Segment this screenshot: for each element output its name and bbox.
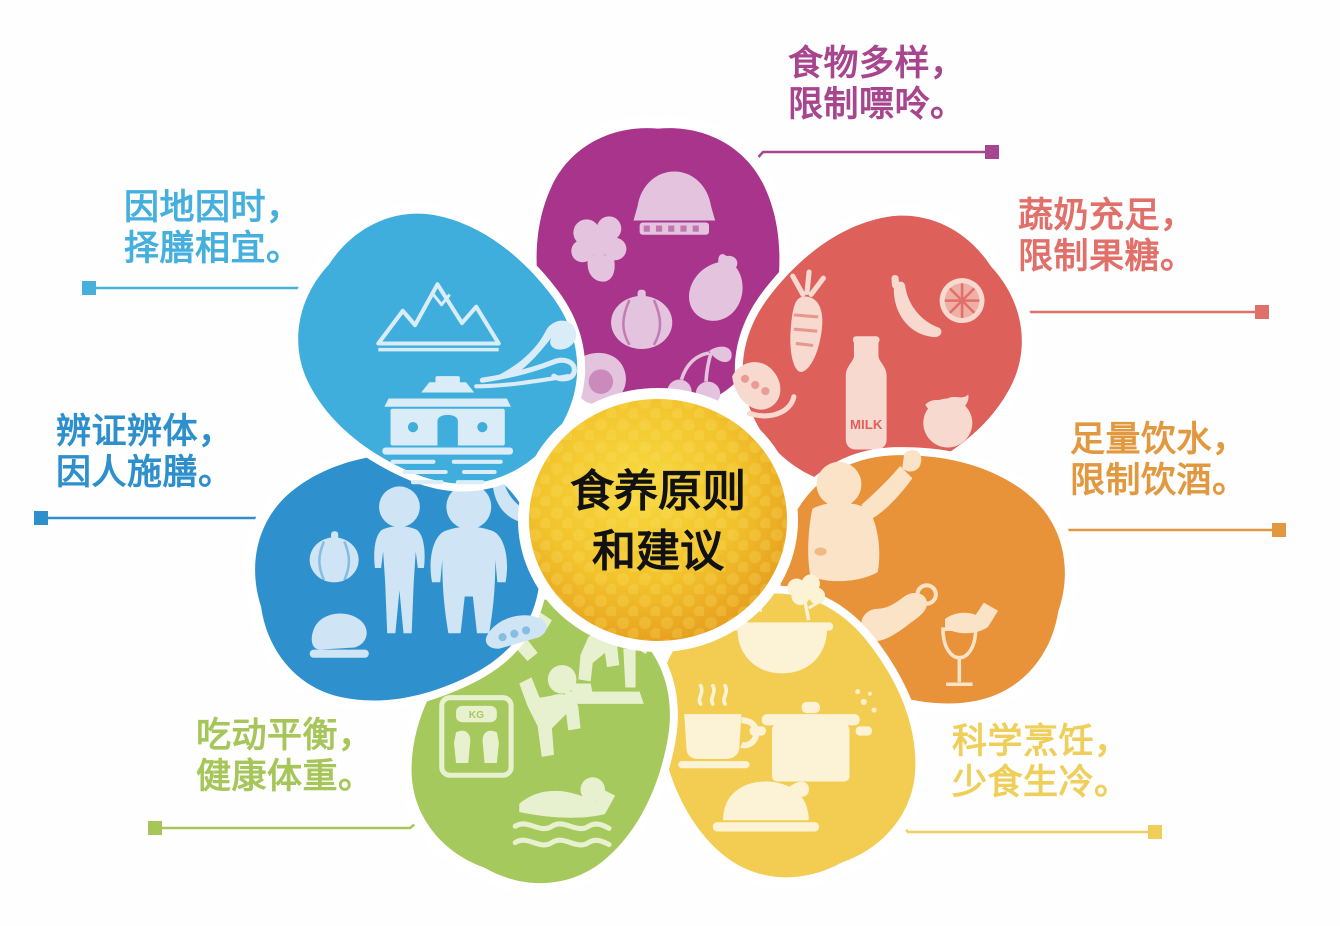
callout-personalized-diet: 辨证辨体， 因人施膳。 (56, 412, 234, 493)
connector-endpoint-dot (1148, 825, 1162, 839)
center-badge: 食养原则 和建议 (518, 388, 798, 652)
connector-endpoint-dot (148, 821, 162, 835)
connector-endpoint-dot (82, 281, 96, 295)
callout-drink-water: 足量饮水， 限制饮酒。 (1070, 420, 1248, 501)
tomato-icon (923, 394, 972, 447)
connector-endpoint-dot (34, 511, 48, 525)
center-title-line2: 和建议 (592, 527, 725, 576)
connector-endpoint-dot (1272, 523, 1286, 537)
citrus-slice-icon (940, 278, 985, 323)
callout-region-season: 因地因时， 择膳相宜。 (124, 188, 302, 269)
center-title-line1: 食养原则 (570, 467, 746, 516)
connector-endpoint-dot (1255, 305, 1269, 319)
weight-scale-label: KG (469, 710, 484, 721)
callout-scientific-cooking: 科学烹饪， 少食生冷。 (952, 722, 1130, 803)
connector-endpoint-dot (985, 145, 999, 159)
callout-eat-move-balance: 吃动平衡， 健康体重。 (196, 716, 374, 797)
milk-bottle-label: MILK (850, 417, 883, 432)
callout-food-variety: 食物多样， 限制嘌呤。 (788, 44, 966, 125)
infographic-canvas: MILK (0, 0, 1340, 926)
callout-vegetables-milk: 蔬奶充足， 限制果糖。 (1018, 196, 1196, 277)
